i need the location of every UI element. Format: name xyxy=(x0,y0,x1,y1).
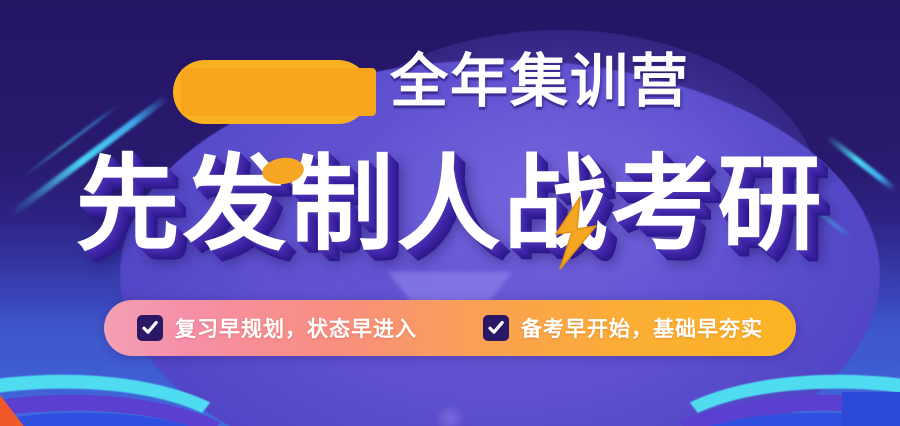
orange-corner-wedge xyxy=(0,395,26,426)
checkbox-checked-icon xyxy=(137,315,163,341)
blue-corner-block xyxy=(842,392,900,426)
arc-left-cyan xyxy=(0,347,283,426)
arc-left-blue xyxy=(0,385,303,426)
lightning-bolt-icon xyxy=(546,196,604,270)
checkbox-checked-icon xyxy=(483,315,509,341)
main-title-wrap: 先发制人战考研 xyxy=(0,152,900,256)
promo-banner: 全年集训营 先发制人战考研 复习早规划，状态早进入 备考早开 xyxy=(0,0,900,426)
arc-right-violet xyxy=(607,367,900,426)
arc-left-violet xyxy=(0,367,293,426)
headline-text: 全年集训营 xyxy=(390,52,690,110)
feature-label-2: 备考早开始，基础早夯实 xyxy=(521,313,763,343)
arc-right-blue xyxy=(597,385,900,426)
beam-core-glow xyxy=(436,404,464,426)
orange-rounded-badge xyxy=(173,60,370,124)
feature-item-1: 复习早规划，状态早进入 xyxy=(137,313,417,343)
arc-right-cyan xyxy=(617,347,900,426)
main-title: 先发制人战考研 xyxy=(75,152,824,256)
feature-label-1: 复习早规划，状态早进入 xyxy=(175,313,417,343)
feature-item-2: 备考早开始，基础早夯实 xyxy=(483,313,763,343)
features-pill: 复习早规划，状态早进入 备考早开始，基础早夯实 xyxy=(104,300,796,356)
